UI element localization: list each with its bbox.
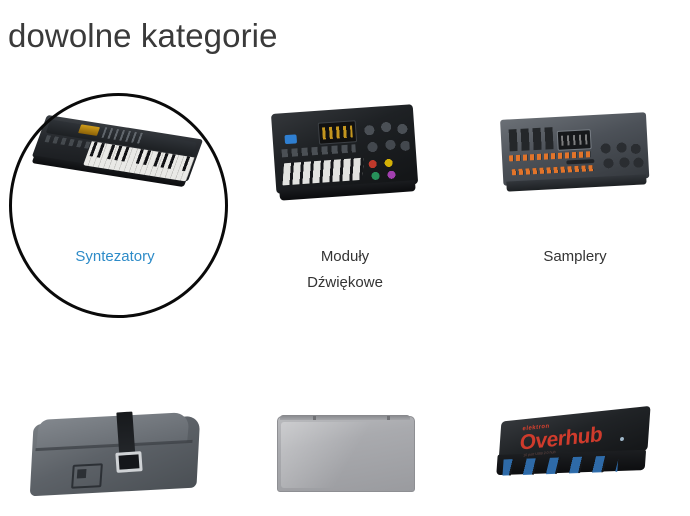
laptop-image[interactable]: [250, 386, 440, 516]
category-item-samplery[interactable]: Samplery: [460, 90, 690, 296]
laptop-art: [277, 412, 413, 490]
label-line-2: Dźwiękowe: [307, 274, 383, 291]
category-item-moduly-dzwiekowe[interactable]: Moduły Dźwiękowe: [230, 90, 460, 296]
gig-bag-case-image[interactable]: [20, 386, 210, 516]
category-item-overhub[interactable]: elektron Overhub 10 port USB 2.0 hub: [460, 386, 690, 516]
laptop-hinge-notch-left: [313, 416, 316, 420]
module-blue-button: [284, 134, 297, 144]
category-label-syntezatory[interactable]: Syntezatory: [75, 244, 154, 270]
page-title: dowolne kategorie: [8, 16, 278, 56]
sampler-device-image[interactable]: [480, 90, 670, 220]
label-line-1: Moduły: [321, 248, 369, 265]
category-label-samplery[interactable]: Samplery: [543, 244, 606, 270]
overhub-usb-hub-image[interactable]: elektron Overhub 10 port USB 2.0 hub: [480, 386, 670, 516]
sampler-art: [500, 112, 650, 198]
bag-buckle: [115, 451, 142, 473]
sound-module-art: [271, 104, 419, 206]
category-label-moduly-dzwiekowe[interactable]: Moduły Dźwiękowe: [307, 244, 383, 296]
sampler-display: [557, 129, 592, 151]
hub-usb-ports: [502, 456, 618, 476]
laptop-hinge: [280, 415, 410, 420]
category-item-laptop[interactable]: [230, 386, 460, 516]
module-knob-bank: [360, 119, 410, 156]
sampler-button-grid: [509, 127, 554, 151]
sound-module-groovebox-image[interactable]: [250, 90, 440, 220]
synthesizer-keyboard-image[interactable]: [20, 90, 210, 220]
category-grid: Syntezatory Moduły Dźwiękowe: [0, 90, 690, 516]
category-item-gig-bag[interactable]: [0, 386, 230, 516]
module-display: [318, 120, 357, 145]
category-item-syntezatory[interactable]: Syntezatory: [0, 90, 230, 296]
laptop-hinge-notch-right: [387, 416, 390, 420]
module-colored-buttons: [366, 157, 409, 182]
laptop-surface-sheen: [281, 422, 409, 488]
gig-bag-art: [26, 410, 204, 492]
category-row-1: Syntezatory Moduły Dźwiękowe: [0, 90, 690, 296]
overhub-art: elektron Overhub 10 port USB 2.0 hub: [492, 406, 659, 496]
category-row-2: elektron Overhub 10 port USB 2.0 hub: [0, 386, 690, 516]
sampler-knob-bank: [597, 140, 645, 172]
bag-logo-patch: [71, 463, 103, 489]
synth-keyboard-art: [27, 115, 203, 195]
